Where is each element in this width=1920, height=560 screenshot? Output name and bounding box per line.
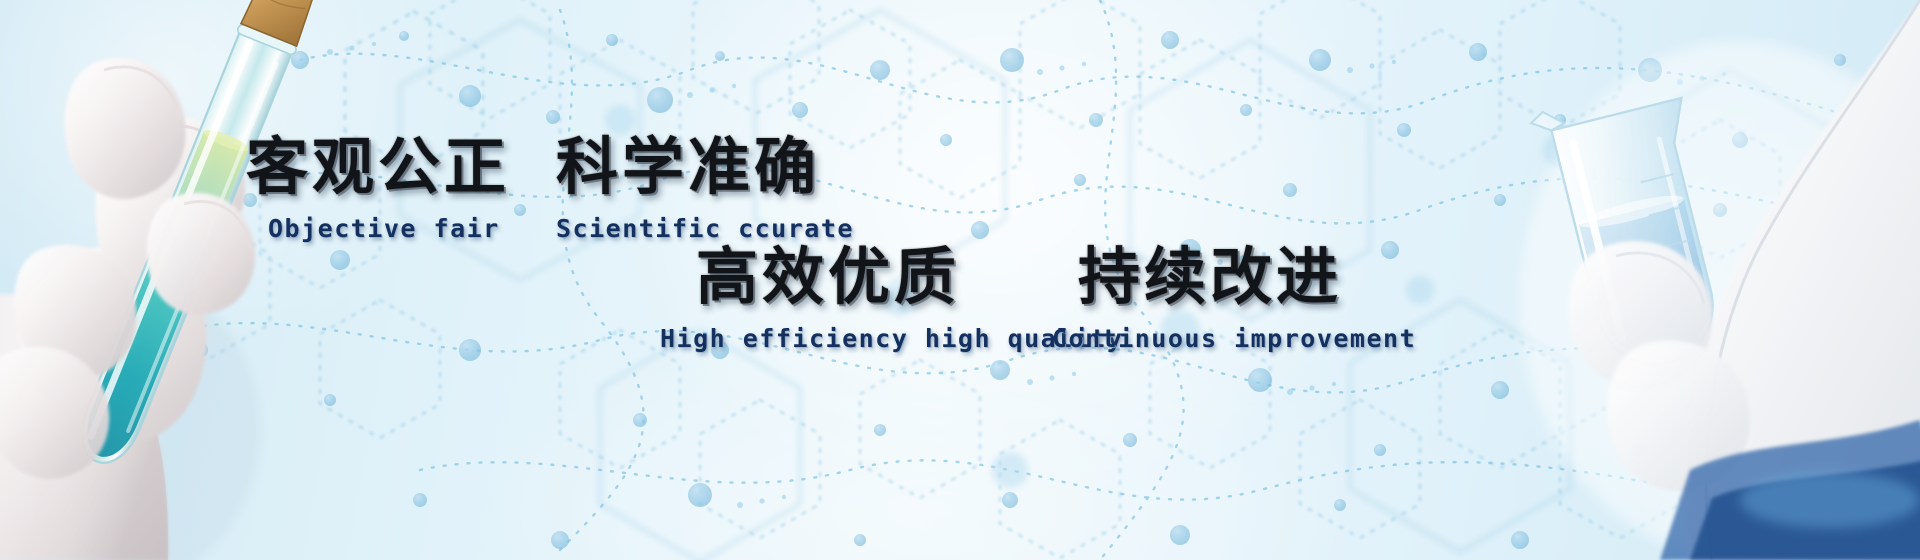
light-bloom-right	[1480, 40, 1920, 560]
slogan-2-subtitle-en: Scientific ccurate	[556, 216, 854, 241]
slogan-4-subtitle-en: Continuous improvement	[1052, 326, 1416, 351]
slogan-objective-fair: 客观公正 Objective fair	[246, 136, 510, 241]
slogan-2-headline-cn: 科学准确	[556, 136, 854, 198]
slogan-1-headline-cn: 客观公正	[246, 136, 510, 198]
gloved-hand-beaker-image	[1360, 0, 1920, 560]
slogan-4-headline-cn: 持续改进	[1078, 246, 1416, 308]
slogan-1-subtitle-en: Objective fair	[268, 216, 510, 241]
gloved-hand-test-tube-image	[0, 0, 430, 560]
slogan-3-headline-cn: 高效优质	[696, 246, 1123, 308]
lab-quality-banner: 客观公正 Objective fair 科学准确 Scientific ccur…	[0, 0, 1920, 560]
slogan-scientific-accurate: 科学准确 Scientific ccurate	[556, 136, 854, 241]
slogan-continuous-improvement: 持续改进 Continuous improvement	[1078, 246, 1416, 351]
